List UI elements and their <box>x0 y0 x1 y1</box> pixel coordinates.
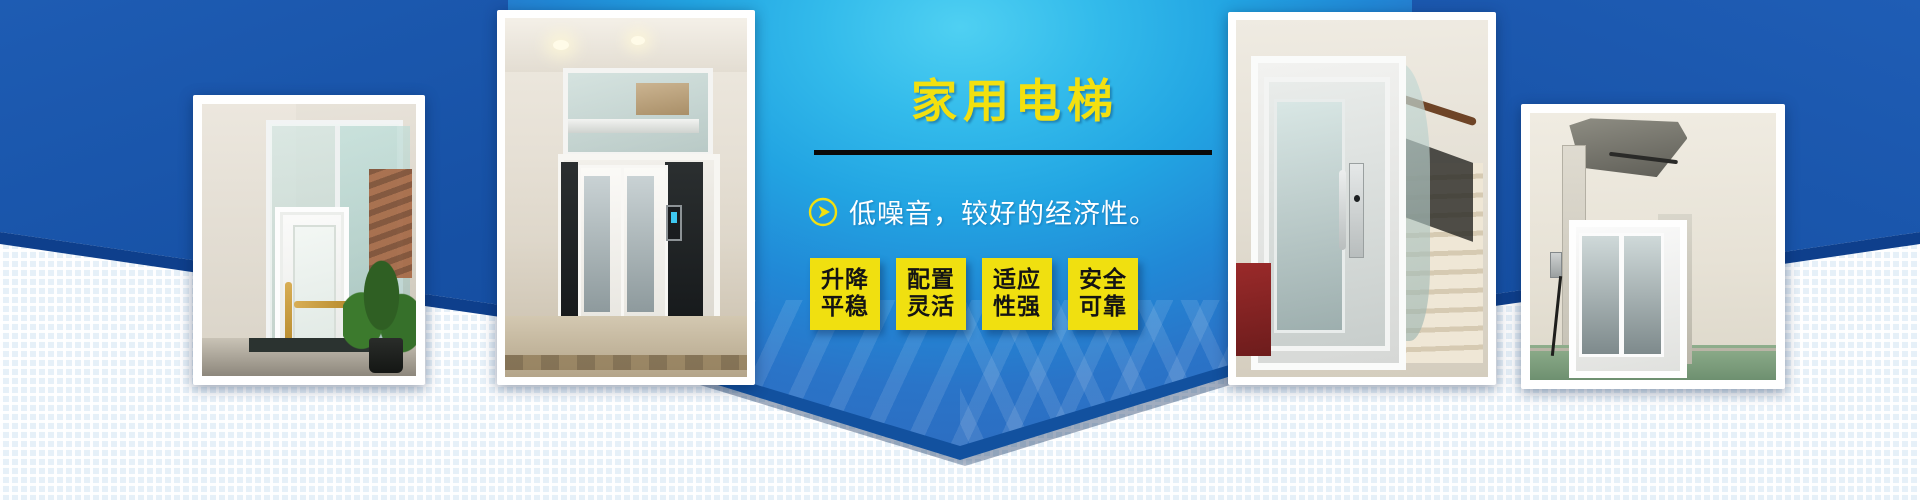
feature-badge-0-line1: 升降 <box>821 266 869 292</box>
title-divider-rule <box>814 150 1212 155</box>
photo-card-installation-elevator[interactable] <box>1521 104 1785 389</box>
circled-play-arrow-icon <box>808 197 838 227</box>
feature-badge-1-line2: 灵活 <box>896 293 966 320</box>
page-title: 家用电梯 <box>800 78 1230 124</box>
photo-image-3 <box>1236 20 1488 377</box>
scene-hallway-elevator-with-sliding-doors <box>505 18 747 377</box>
feature-badge-0[interactable]: 升降 平稳 <box>810 258 880 330</box>
scene-elevator-beside-marble-staircase <box>1236 20 1488 377</box>
scene-elevator-under-installation-bare-room <box>1530 113 1776 380</box>
photo-image-2 <box>505 18 747 377</box>
feature-badge-1[interactable]: 配置 灵活 <box>896 258 966 330</box>
feature-badge-2-line2: 性强 <box>982 293 1052 320</box>
tagline-row: 低噪音，较好的经济性。 <box>808 192 1238 231</box>
feature-badge-2[interactable]: 适应 性强 <box>982 258 1052 330</box>
feature-badge-list: 升降 平稳 配置 灵活 适应 性强 安全 可靠 <box>810 258 1138 330</box>
photo-card-staircase-elevator[interactable] <box>1228 12 1496 385</box>
photo-image-4 <box>1530 113 1776 380</box>
feature-badge-1-line1: 配置 <box>907 266 955 292</box>
banner-text-content: 家用电梯 低噪音，较好的经济性。 升降 平稳 配置 灵活 适应 性强 <box>800 0 1230 380</box>
home-elevator-promo-banner: 家用电梯 低噪音，较好的经济性。 升降 平稳 配置 灵活 适应 性强 <box>0 0 1920 500</box>
feature-badge-3-line2: 可靠 <box>1068 293 1138 320</box>
feature-badge-2-line1: 适应 <box>993 266 1041 292</box>
photo-card-glass-shaft-elevator[interactable] <box>193 95 425 385</box>
photo-card-hallway-elevator[interactable] <box>497 10 755 385</box>
feature-badge-3-line1: 安全 <box>1079 266 1127 292</box>
scene-glass-shaft-home-elevator-with-plant <box>202 104 416 376</box>
feature-badge-3[interactable]: 安全 可靠 <box>1068 258 1138 330</box>
tagline-text: 低噪音，较好的经济性。 <box>849 192 1157 231</box>
photo-image-1 <box>202 104 416 376</box>
feature-badge-0-line2: 平稳 <box>810 293 880 320</box>
